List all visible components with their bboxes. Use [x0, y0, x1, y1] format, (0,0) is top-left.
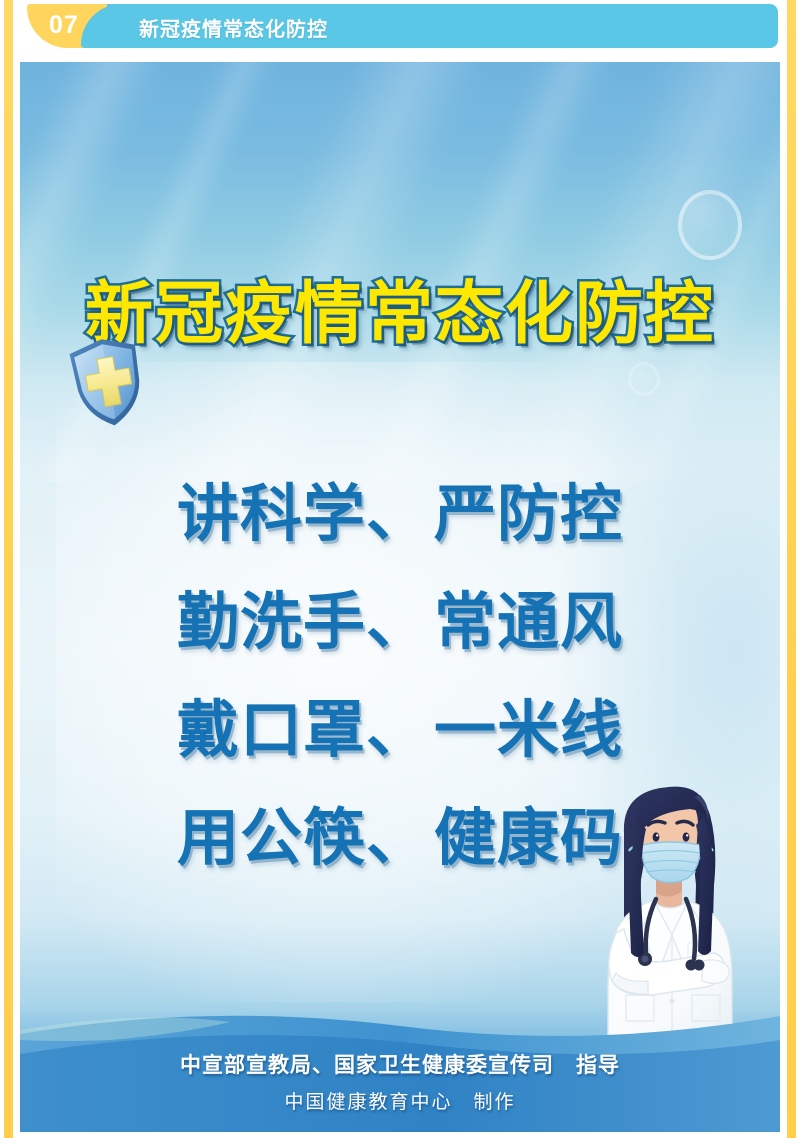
decorative-bubble-small: [628, 362, 660, 396]
footer-guidance-line: 中宣部宣教局、国家卫生健康委宣传司 指导: [20, 1049, 780, 1079]
slogan-line-3: 戴口罩、一米线: [20, 676, 780, 784]
header-number: 07: [49, 11, 79, 40]
slogan-2-left: 勤洗手: [177, 585, 366, 658]
slogan-2-separator: 、: [366, 585, 434, 658]
page-header: 07 新冠疫情常态化防控: [27, 4, 778, 48]
slogan-line-1: 讲科学、严防控: [20, 460, 780, 568]
slogan-3-left: 戴口罩: [177, 693, 366, 766]
slogan-2-right: 常通风: [434, 585, 623, 658]
decorative-bubble-large: [678, 190, 742, 260]
left-edge-stripe: [4, 0, 13, 1138]
right-edge-stripe: [787, 0, 796, 1138]
footer-producer-line: 中国健康教育中心 制作: [20, 1087, 780, 1114]
shield-cross-icon: [65, 334, 149, 430]
slogan-3-separator: 、: [366, 693, 434, 766]
slogan-4-left: 用公筷: [177, 801, 366, 874]
female-doctor-illustration: [582, 775, 762, 1040]
poster-canvas: 新冠疫情常态化防控: [20, 62, 780, 1132]
slogan-1-separator: 、: [366, 477, 434, 550]
poster-main-title: 新冠疫情常态化防控: [85, 258, 715, 357]
footer-credits: 中宣部宣教局、国家卫生健康委宣传司 指导 中国健康教育中心 制作: [20, 1049, 780, 1114]
poster-page: 07 新冠疫情常态化防控 新冠疫情常态化防控: [0, 0, 800, 1138]
slogan-1-right: 严防控: [434, 477, 623, 550]
slogan-4-separator: 、: [366, 801, 434, 874]
slogan-1-left: 讲科学: [177, 477, 366, 550]
slogan-line-2: 勤洗手、常通风: [20, 568, 780, 676]
slogan-3-right: 一米线: [434, 693, 623, 766]
header-title-text: 新冠疫情常态化防控: [139, 13, 328, 42]
